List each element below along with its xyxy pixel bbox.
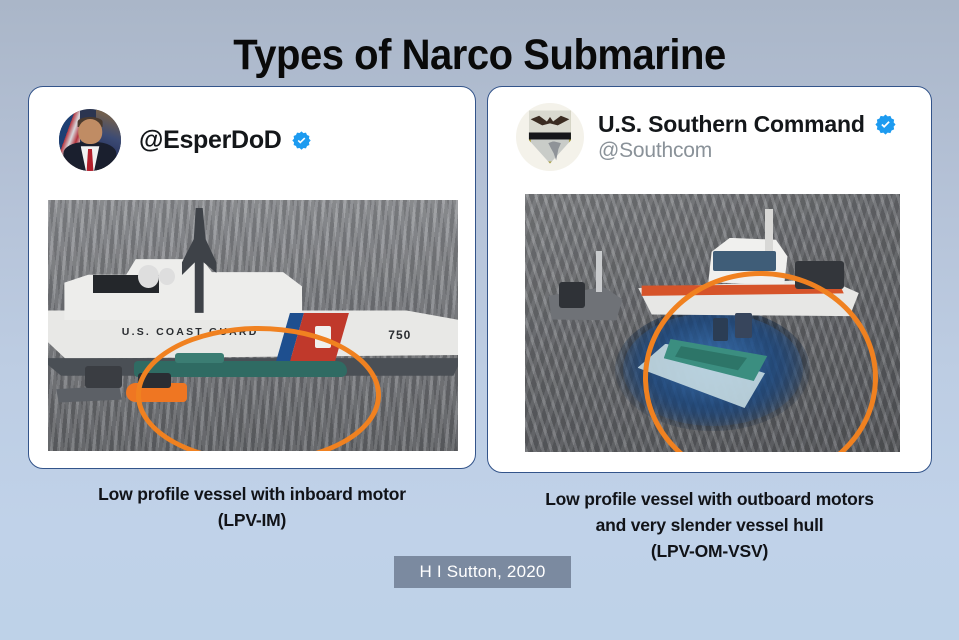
boat-crew bbox=[85, 366, 122, 389]
credit-text: H I Sutton, 2020 bbox=[419, 562, 545, 582]
tweet-card-left[interactable]: @EsperDoD U.S. COAST GUARD 75 bbox=[28, 86, 476, 469]
radar-dome-icon bbox=[138, 265, 159, 288]
infographic-canvas: Types of Narco Submarine @EsperDoD bbox=[0, 0, 959, 640]
avatar-esper[interactable] bbox=[59, 109, 121, 171]
verified-badge-icon bbox=[874, 113, 897, 136]
page-title: Types of Narco Submarine bbox=[34, 30, 926, 80]
caption-left-line-2: (LPV-IM) bbox=[28, 507, 476, 533]
caption-left: Low profile vessel with inboard motor (L… bbox=[28, 481, 476, 533]
handle-line-left: @EsperDoD bbox=[139, 126, 312, 155]
rhib-antenna bbox=[596, 251, 602, 292]
rhib-crew bbox=[559, 282, 585, 308]
orange-ellipse-highlight-left bbox=[136, 326, 381, 451]
avatar-face bbox=[78, 119, 102, 144]
shield-black-band bbox=[529, 133, 571, 140]
photo-lpv-om-vsv bbox=[525, 194, 900, 452]
account-handle-left[interactable]: @EsperDoD bbox=[139, 126, 282, 155]
hull-number-text: 750 bbox=[388, 328, 411, 342]
tweet-card-right[interactable]: U.S. Southern Command @Southcom bbox=[487, 86, 932, 473]
account-handle-right[interactable]: @Southcom bbox=[598, 139, 897, 163]
credit-badge: H I Sutton, 2020 bbox=[394, 556, 571, 588]
avatar-southcom[interactable] bbox=[516, 103, 584, 171]
caption-right: Low profile vessel with outboard motors … bbox=[487, 486, 932, 564]
caption-right-line-2: and very slender vessel hull bbox=[487, 512, 932, 538]
photo-lpv-im: U.S. COAST GUARD 750 bbox=[48, 200, 458, 451]
patrol-boat-mast bbox=[765, 209, 773, 250]
account-names-left: @EsperDoD bbox=[139, 126, 312, 155]
tweet-header-right: U.S. Southern Command @Southcom bbox=[488, 87, 932, 171]
verified-badge-icon bbox=[291, 130, 312, 151]
account-name-right[interactable]: U.S. Southern Command bbox=[598, 111, 865, 138]
patrol-boat-window bbox=[713, 251, 777, 272]
account-names-right: U.S. Southern Command @Southcom bbox=[598, 111, 897, 163]
tweet-header-left: @EsperDoD bbox=[29, 87, 476, 171]
caption-right-line-1: Low profile vessel with outboard motors bbox=[487, 486, 932, 512]
caption-left-line-1: Low profile vessel with inboard motor bbox=[28, 481, 476, 507]
name-line-right: U.S. Southern Command bbox=[598, 111, 897, 138]
southcom-shield-emblem-icon bbox=[529, 110, 571, 163]
